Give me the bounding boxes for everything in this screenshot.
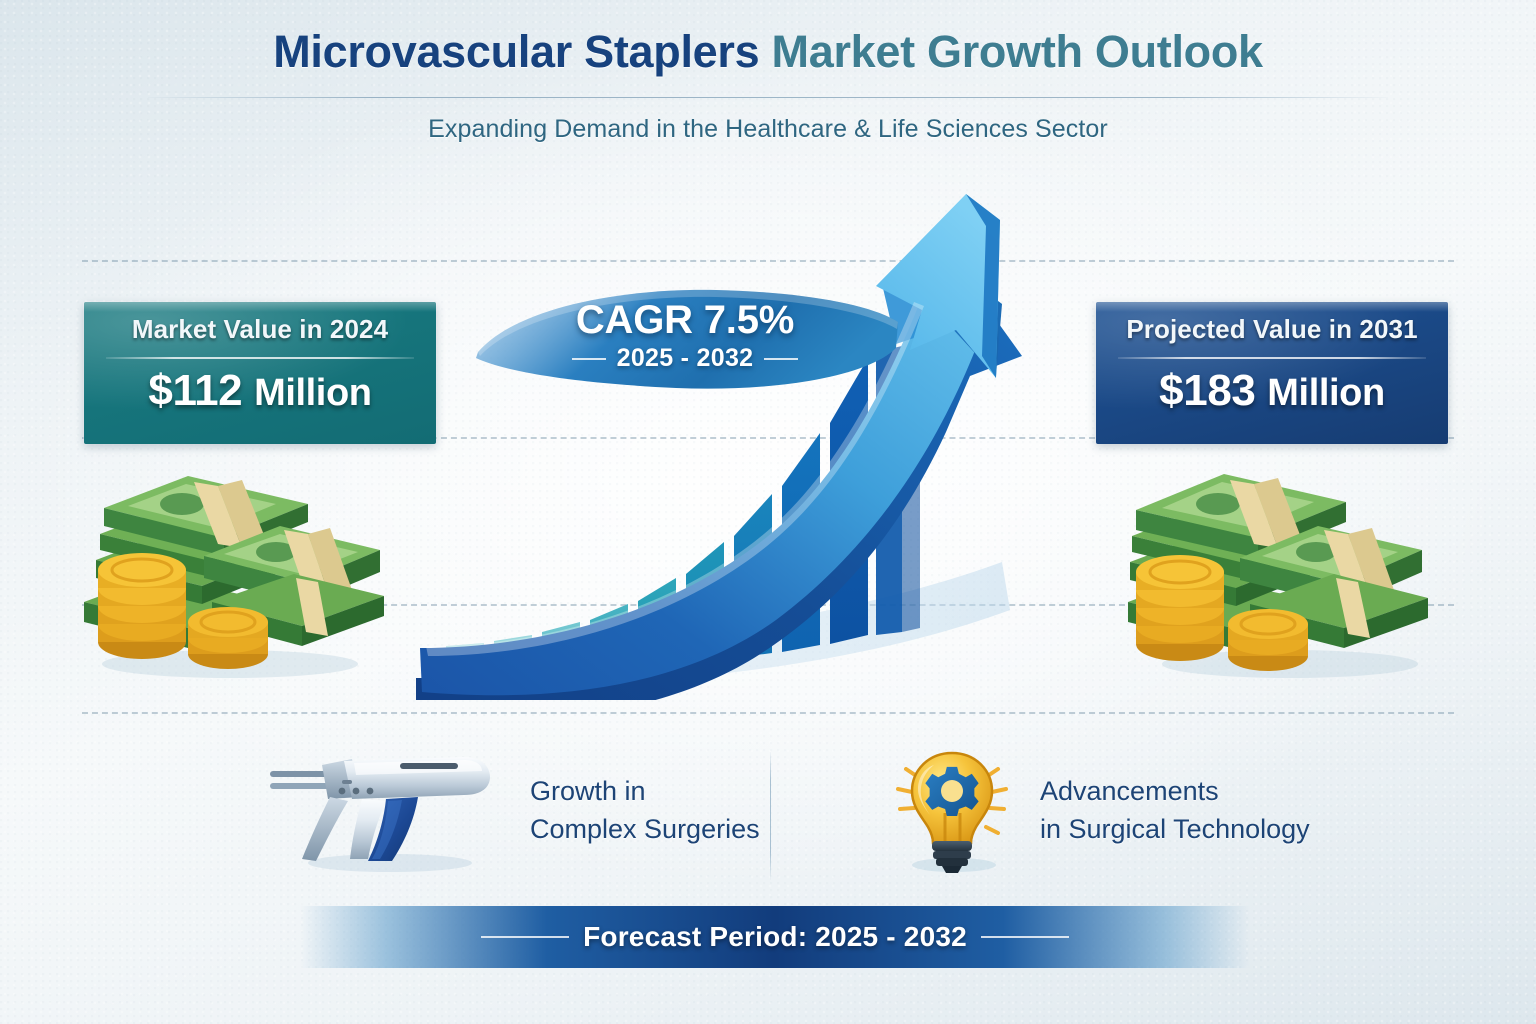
forecast-period-banner: Forecast Period: 2025 - 2032: [300, 906, 1250, 968]
projected-value-2031-value: $183 Million: [1096, 366, 1448, 416]
coin-stack-short: [188, 607, 268, 669]
feature-right-text: Advancements in Surgical Technology: [1040, 772, 1310, 849]
feature-right-line2: in Surgical Technology: [1040, 810, 1310, 848]
feature-left-text: Growth in Complex Surgeries: [530, 772, 760, 849]
projected-value-2031-unit: Million: [1267, 372, 1385, 414]
feature-advancements-surgical-technology: Advancements in Surgical Technology: [888, 740, 1310, 880]
chart-gridline: [82, 712, 1454, 714]
market-value-2024-value: $112 Million: [84, 366, 436, 416]
coin-stack-tall: [98, 553, 186, 659]
page-title: Microvascular Staplers Market Growth Out…: [0, 28, 1536, 76]
panel-divider: [106, 357, 414, 359]
page-subtitle: Expanding Demand in the Healthcare & Lif…: [0, 115, 1536, 144]
lightbulb-gear-icon: [888, 743, 1018, 878]
money-stack-icon-right: [1122, 452, 1452, 682]
title-divider: [148, 97, 1388, 98]
projected-value-2031-amount: $183: [1159, 366, 1255, 415]
market-value-2024-label: Market Value in 2024: [84, 314, 436, 345]
feature-divider: [770, 752, 771, 880]
panel-gloss: [84, 302, 436, 312]
cagr-years: 2025 - 2032: [617, 344, 754, 373]
feature-growth-complex-surgeries: Growth in Complex Surgeries: [268, 740, 760, 880]
footer-dash-left: [481, 936, 569, 938]
cagr-dash-left: [572, 358, 606, 360]
forecast-period-text: Forecast Period: 2025 - 2032: [583, 921, 967, 953]
page-title-strong: Microvascular Staplers: [273, 26, 759, 77]
cagr-banner: CAGR 7.5% 2025 - 2032: [470, 282, 900, 394]
surgical-stapler-icon: [268, 743, 508, 878]
projected-value-2031-panel: Projected Value in 2031 $183 Million: [1096, 302, 1448, 444]
page-title-soft: Market Growth Outlook: [759, 26, 1262, 77]
market-value-2024-unit: Million: [254, 372, 372, 414]
growth-chart: [410, 180, 1110, 700]
feature-left-line2: Complex Surgeries: [530, 810, 760, 848]
coin-stack-short: [1228, 609, 1308, 671]
market-value-2024-amount: $112: [148, 366, 242, 415]
cagr-dash-right: [764, 358, 798, 360]
panel-gloss: [1096, 302, 1448, 312]
feature-left-line1: Growth in: [530, 772, 760, 810]
market-value-2024-panel: Market Value in 2024 $112 Million: [84, 302, 436, 444]
projected-value-2031-label: Projected Value in 2031: [1096, 314, 1448, 345]
panel-divider: [1118, 357, 1426, 359]
cagr-years-row: 2025 - 2032: [470, 344, 900, 373]
cagr-value: CAGR 7.5%: [470, 298, 900, 343]
money-stack-icon-left: [62, 452, 392, 682]
coin-stack-tall: [1136, 555, 1224, 661]
header: Microvascular Staplers Market Growth Out…: [0, 28, 1536, 76]
footer-dash-right: [981, 936, 1069, 938]
infographic-canvas: Microvascular Staplers Market Growth Out…: [0, 0, 1536, 1024]
feature-right-line1: Advancements: [1040, 772, 1310, 810]
